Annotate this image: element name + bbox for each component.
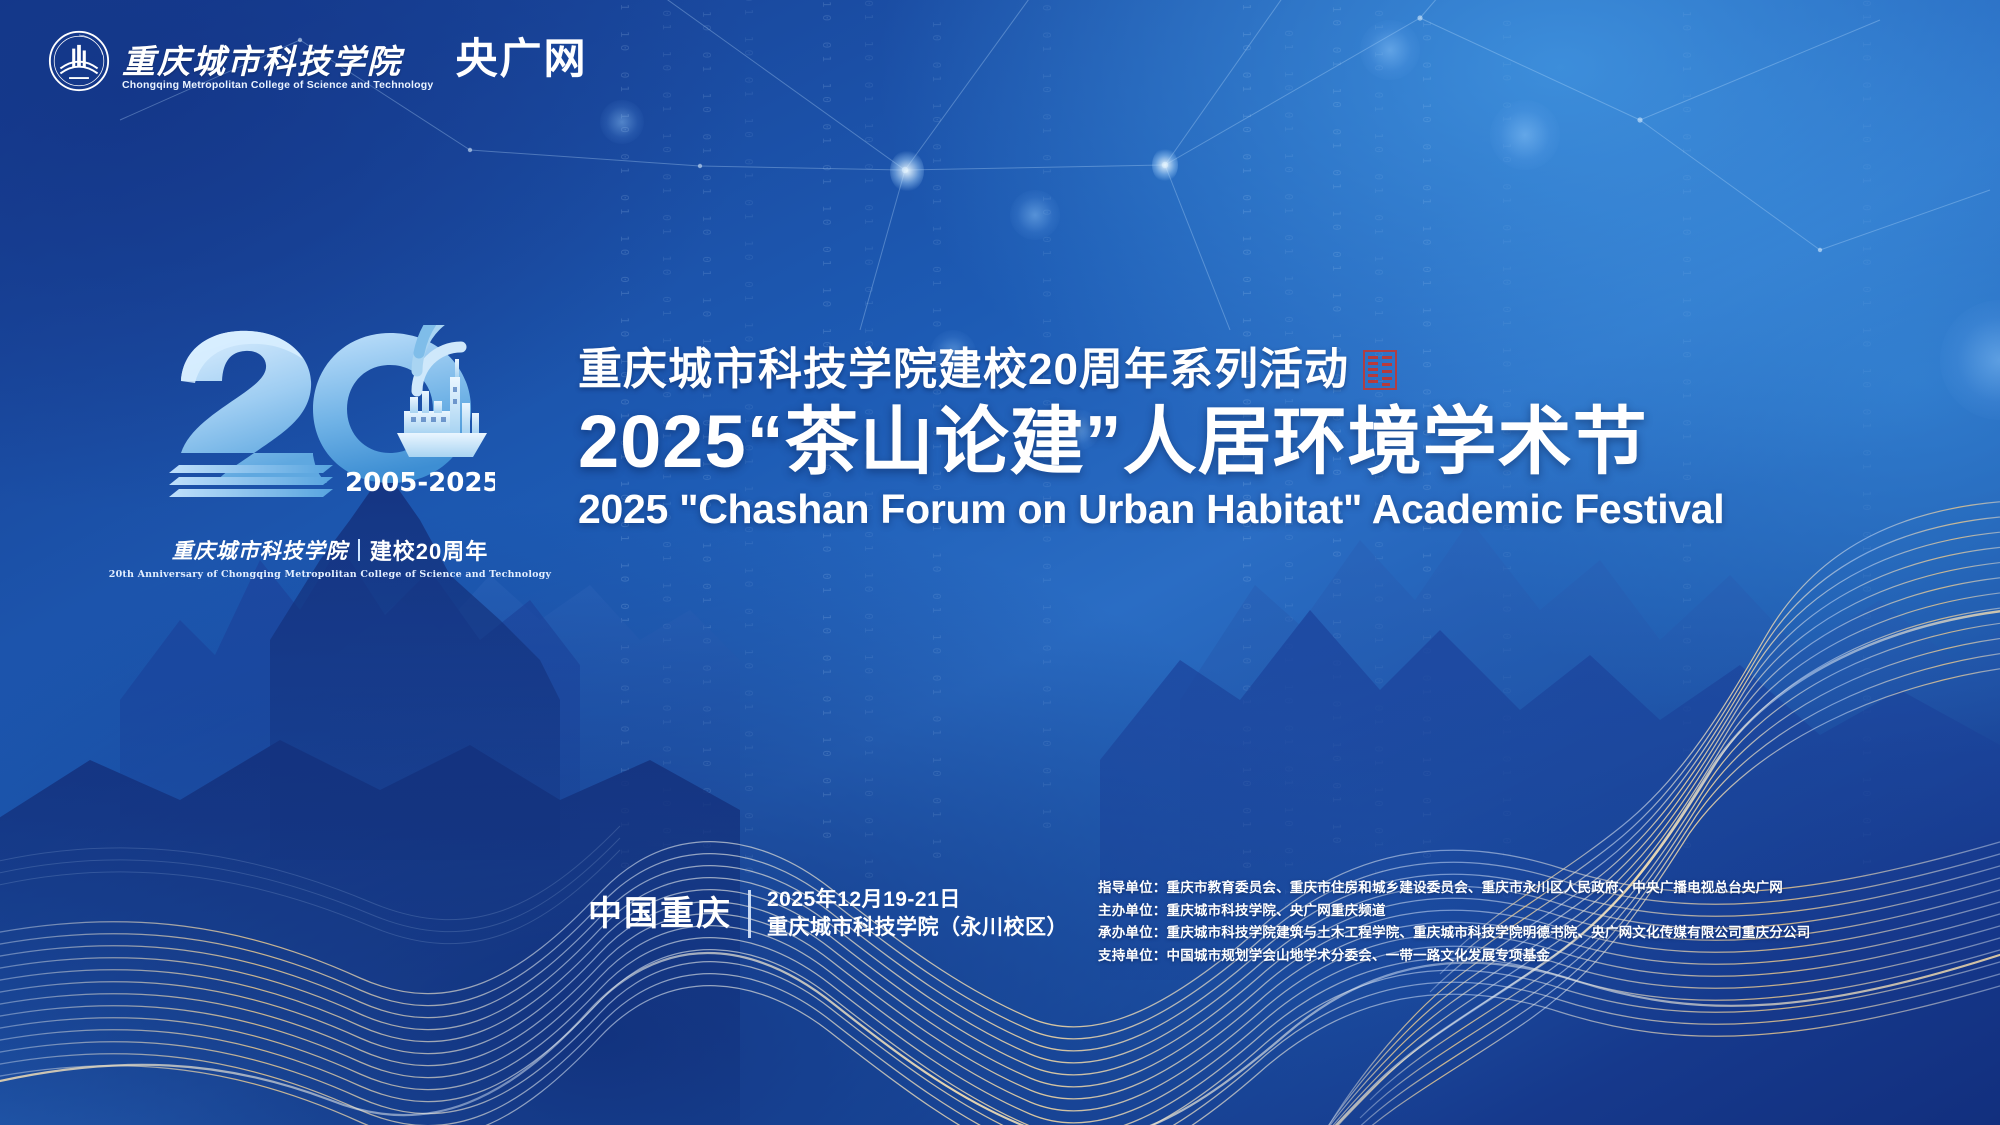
date-venue-group: 2025年12月19-21日 重庆城市科技学院（永川校区）	[767, 888, 1068, 939]
binary-column: 01 10 01 10 01 01 10 01 10 10 01 01 10 0…	[1420, 0, 1433, 320]
organizer-line-organizer: 承办单位：重庆城市科技学院建筑与土木工程学院、重庆城市科技学院明德书院、央广网文…	[1098, 923, 1810, 943]
binary-column: 01 10 01 10 01 01 10 01 10 10 01 01 10 0…	[1680, 0, 1693, 270]
bokeh-glow	[1010, 190, 1060, 240]
event-series-kicker: 重庆城市科技学院建校20周年系列活动	[578, 346, 1349, 394]
organizer-line-guidance: 指导单位：重庆市教育委员会、重庆市住房和城乡建设委员会、重庆市永川区人民政府、中…	[1098, 878, 1810, 898]
event-venue: 重庆城市科技学院（永川校区）	[767, 916, 1068, 939]
anniversary-emblem: 2005-2025 重庆城市科技学院 建校20周年 20th Anniversa…	[150, 325, 510, 615]
event-headline-cn: 2025“茶山论建”人居环境学术节	[578, 402, 1724, 482]
binary-column: 01 10 01 10 01 01 10 01 10 10 01 01 10 0…	[820, 0, 833, 340]
footer-location-block: 中国重庆 2025年12月19-21日 重庆城市科技学院（永川校区）	[588, 888, 1068, 939]
anniversary-name-row: 重庆城市科技学院 建校20周年	[172, 534, 488, 566]
binary-column: 01 10 01 10 01 01 10 01 10 10 01 01 10 0…	[1500, 20, 1513, 300]
university-name-cn: 重庆城市科技学院	[122, 45, 433, 78]
binary-column: 01 10 01 10 01 01 10 01 10 10 01 01 10 0…	[1860, 0, 1873, 280]
university-logo[interactable]: 重庆城市科技学院 Chongqing Metropolitan College …	[48, 30, 433, 92]
binary-column: 01 10 01 10 01 01 10 01 10 10 01 01 10 0…	[862, 0, 875, 300]
binary-column: 01 10 01 10 01 01 10 01 10 10 01 01 10 0…	[930, 0, 943, 280]
anniversary-label-cn: 建校20周年	[370, 534, 488, 566]
binary-column: 01 10 01 10 01 01 10 01 10 10 01 01 10 0…	[1282, 30, 1295, 330]
binary-column: 01 10 01 10 01 01 10 01 10 10 01 01 10 0…	[742, 0, 755, 295]
kicker-row: 重庆城市科技学院建校20周年系列活动	[578, 346, 1724, 394]
divider	[748, 890, 751, 938]
anniversary-label-en: 20th Anniversary of Chongqing Metropolit…	[109, 569, 551, 580]
binary-column: 01 10 01 10 01 01 10 01 10 10 01 01 10 0…	[618, 0, 631, 320]
organizer-line-support: 支持单位：中国城市规划学会山地学术分委会、一带一路文化发展专项基金	[1098, 946, 1810, 966]
bokeh-glow	[1490, 100, 1560, 170]
network-node-icon	[890, 150, 924, 192]
divider	[358, 539, 360, 561]
university-crest-icon	[48, 30, 110, 92]
anniversary-school-cn: 重庆城市科技学院	[172, 535, 348, 565]
title-block: 重庆城市科技学院建校20周年系列活动 2025“茶山论建”人居环境学术节	[578, 346, 1724, 533]
event-date: 2025年12月19-21日	[767, 888, 1068, 911]
red-seal-stamp-icon	[1363, 350, 1397, 390]
university-name-en: Chongqing Metropolitan College of Scienc…	[122, 80, 433, 91]
bokeh-glow	[1940, 300, 2000, 420]
binary-column: 01 10 01 10 01 01 10 01 10 10 01 01 10 0…	[700, 0, 713, 330]
binary-column: 01 10 01 10 01 01 10 01 10 10 01 01 10 0…	[1372, 10, 1385, 310]
organizer-line-host: 主办单位：重庆城市科技学院、央广网重庆频道	[1098, 901, 1810, 921]
header-logo-bar: 重庆城市科技学院 Chongqing Metropolitan College …	[48, 30, 587, 92]
network-node-icon	[1152, 148, 1178, 182]
anniversary-20-mark-icon: 2005-2025	[165, 325, 495, 530]
bokeh-glow	[600, 100, 644, 144]
event-headline-en: 2025 "Chashan Forum on Urban Habitat" Ac…	[578, 487, 1724, 532]
binary-column: 01 10 01 10 01 01 10 01 10 10 01 01 10 0…	[1040, 0, 1053, 280]
bokeh-glow	[1360, 20, 1420, 80]
binary-column: 01 10 01 10 01 01 10 01 10 10 01 01 10 0…	[660, 10, 673, 310]
anniversary-years-label: 2005-2025	[345, 468, 495, 498]
binary-column: 01 10 01 10 01 01 10 01 10 10 01 01 10 0…	[1240, 0, 1253, 350]
city-label: 中国重庆	[588, 897, 732, 931]
binary-column: 01 10 01 10 01 01 10 01 10 10 01 01 10 0…	[1330, 0, 1343, 335]
cnr-partner-logo[interactable]: 央广网	[455, 38, 587, 80]
poster-canvas: 01 10 01 10 01 01 10 01 10 10 01 01 10 0…	[0, 0, 2000, 1125]
organizer-list: 指导单位：重庆市教育委员会、重庆市住房和城乡建设委员会、重庆市永川区人民政府、中…	[1098, 878, 1810, 965]
